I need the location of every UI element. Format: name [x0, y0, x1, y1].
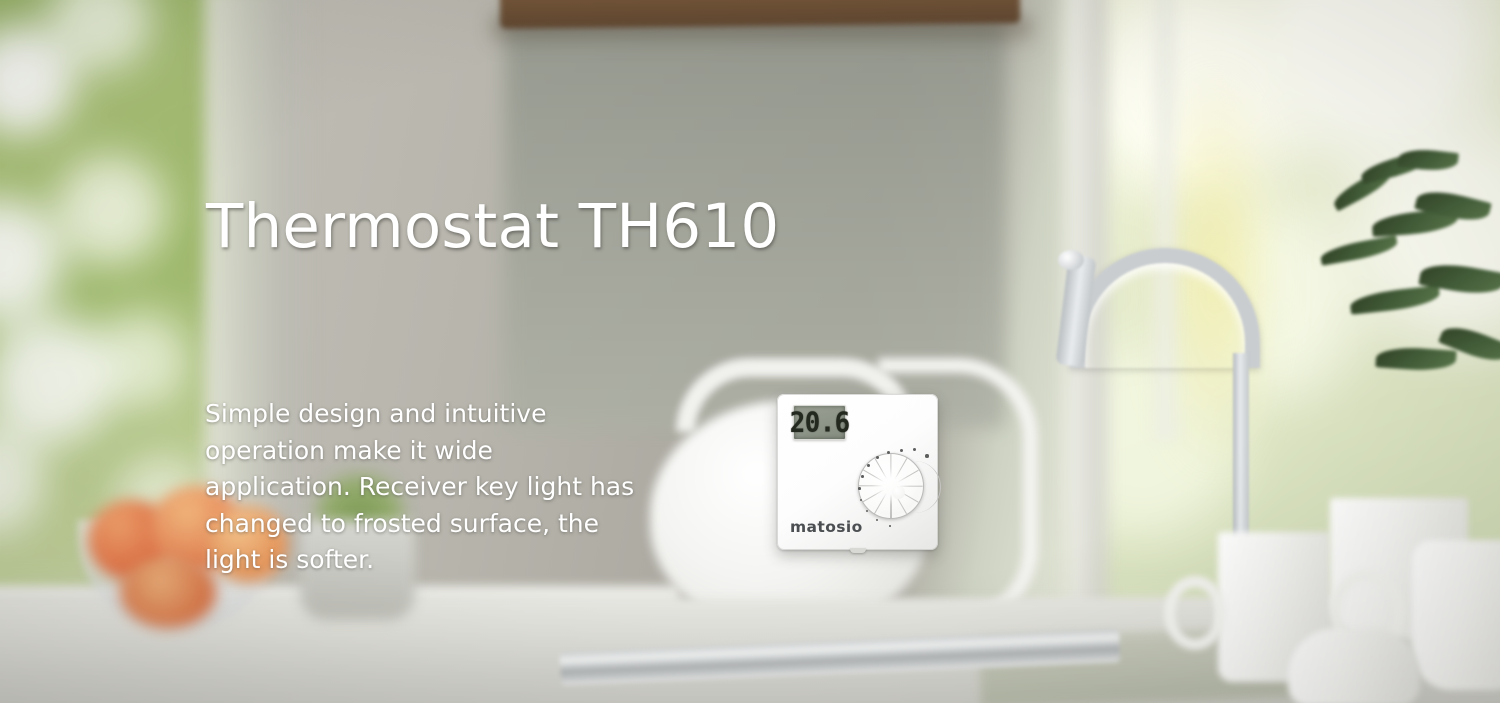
faucet-arc — [1070, 248, 1260, 368]
ceramic-cup-back — [1412, 540, 1500, 690]
thermostat-device[interactable]: 20.6 — [777, 394, 938, 550]
product-hero-banner: Thermostat TH610 Simple design and intui… — [0, 0, 1500, 703]
ceramic-cup-front — [1288, 628, 1420, 703]
fruit-apple — [120, 556, 216, 628]
kitchen-faucet — [1040, 248, 1250, 578]
lcd-display: 20.6 — [793, 405, 846, 440]
hero-copy-block: Thermostat TH610 — [206, 196, 766, 258]
page-title: Thermostat TH610 — [206, 196, 766, 258]
device-bottom-notch — [850, 548, 866, 553]
potted-plant-right — [1320, 150, 1500, 420]
dial-scale-dots — [857, 449, 939, 535]
brand-logo: matosio — [790, 518, 863, 536]
lcd-temperature-value: 20.6 — [790, 407, 850, 438]
hero-description: Simple design and intuitive operation ma… — [205, 396, 645, 579]
faucet-tip — [1058, 250, 1084, 270]
ceramic-mug-handle — [1164, 576, 1226, 650]
temperature-dial[interactable] — [857, 449, 939, 535]
